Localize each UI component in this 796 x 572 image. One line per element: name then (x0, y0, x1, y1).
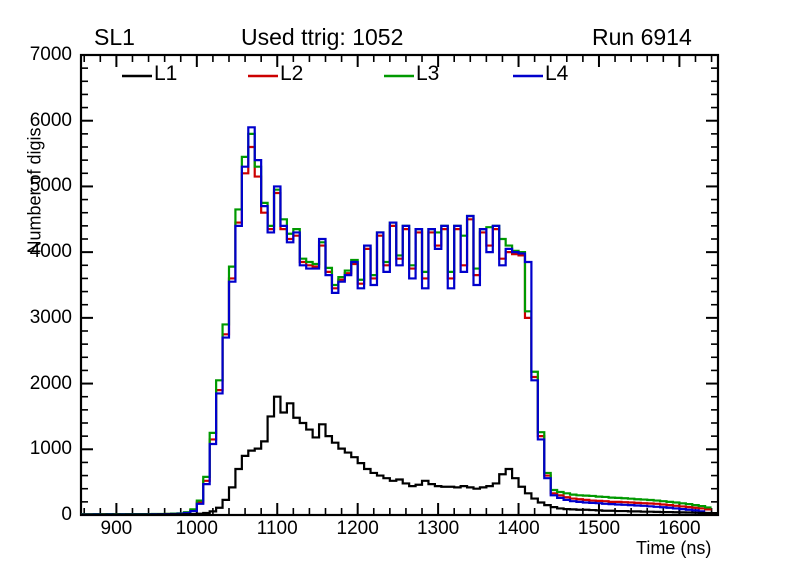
legend-label-l4: L4 (545, 62, 568, 86)
plot-area (0, 0, 796, 572)
axis-ticks (81, 55, 718, 515)
root-canvas: SL1 Used ttrig: 1052 Run 6914 Number of … (0, 0, 796, 572)
legend-label-l1: L1 (154, 62, 177, 86)
series-line-l4 (81, 127, 705, 514)
legend-label-l2: L2 (280, 62, 303, 86)
legend-label-l3: L3 (416, 62, 439, 86)
series-line-l2 (81, 147, 712, 514)
data-series-group (81, 127, 718, 514)
axis-frame (81, 55, 718, 515)
series-line-l3 (81, 134, 712, 514)
